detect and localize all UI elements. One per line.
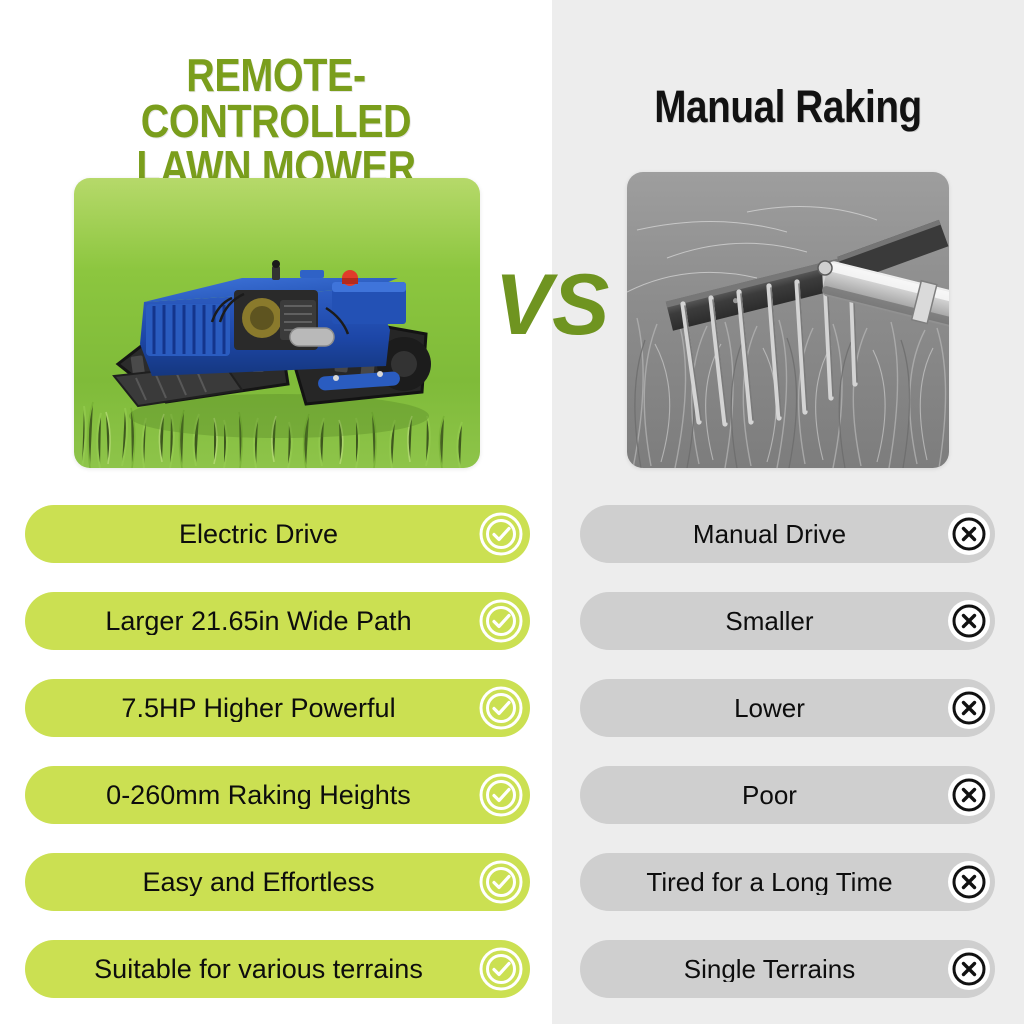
drawback-pill[interactable]: Poor xyxy=(580,766,995,824)
drawback-label: Manual Drive xyxy=(596,521,943,547)
feature-pill[interactable]: 7.5HP Higher Powerful xyxy=(25,679,530,737)
check-circle-icon xyxy=(478,511,524,557)
drawback-label: Smaller xyxy=(596,608,943,634)
drawback-pill[interactable]: Lower xyxy=(580,679,995,737)
feature-pill[interactable]: Electric Drive xyxy=(25,505,530,563)
column-product: REMOTE-CONTROLLED LAWN MOWER xyxy=(0,0,552,1024)
feature-pill[interactable]: Suitable for various terrains xyxy=(25,940,530,998)
check-circle-icon xyxy=(478,685,524,731)
check-circle-icon xyxy=(478,598,524,644)
manual-photo xyxy=(627,172,949,468)
feature-label: Suitable for various terrains xyxy=(43,956,474,983)
x-circle-icon xyxy=(946,946,992,992)
x-circle-icon xyxy=(946,685,992,731)
drawback-label: Single Terrains xyxy=(596,956,943,982)
manual-title: Manual Raking xyxy=(602,84,974,129)
check-circle-icon xyxy=(478,946,524,992)
check-circle-icon xyxy=(478,772,524,818)
check-circle-icon xyxy=(478,859,524,905)
feature-label: Larger 21.65in Wide Path xyxy=(43,608,474,635)
drawback-label: Poor xyxy=(596,782,943,808)
drawback-pill[interactable]: Single Terrains xyxy=(580,940,995,998)
x-circle-icon xyxy=(946,772,992,818)
drawback-pill[interactable]: Manual Drive xyxy=(580,505,995,563)
x-circle-icon xyxy=(946,598,992,644)
x-circle-icon xyxy=(946,511,992,557)
product-photo xyxy=(74,178,480,468)
feature-label: Electric Drive xyxy=(43,521,474,548)
x-circle-icon xyxy=(946,859,992,905)
drawback-pill[interactable]: Smaller xyxy=(580,592,995,650)
feature-pill[interactable]: Easy and Effortless xyxy=(25,853,530,911)
feature-label: 0-260mm Raking Heights xyxy=(43,782,474,809)
svg-text:VS: VS xyxy=(495,258,610,350)
product-title: REMOTE-CONTROLLED LAWN MOWER xyxy=(70,52,483,190)
comparison-infographic: REMOTE-CONTROLLED LAWN MOWER xyxy=(0,0,1024,1024)
vs-badge: VS xyxy=(494,258,610,350)
drawback-label: Lower xyxy=(596,695,943,721)
drawback-pill[interactable]: Tired for a Long Time xyxy=(580,853,995,911)
column-manual: Manual Raking xyxy=(552,0,1024,1024)
feature-label: Easy and Effortless xyxy=(43,869,474,896)
feature-label: 7.5HP Higher Powerful xyxy=(43,695,474,722)
feature-pill[interactable]: Larger 21.65in Wide Path xyxy=(25,592,530,650)
drawback-label: Tired for a Long Time xyxy=(596,869,943,895)
feature-pill[interactable]: 0-260mm Raking Heights xyxy=(25,766,530,824)
